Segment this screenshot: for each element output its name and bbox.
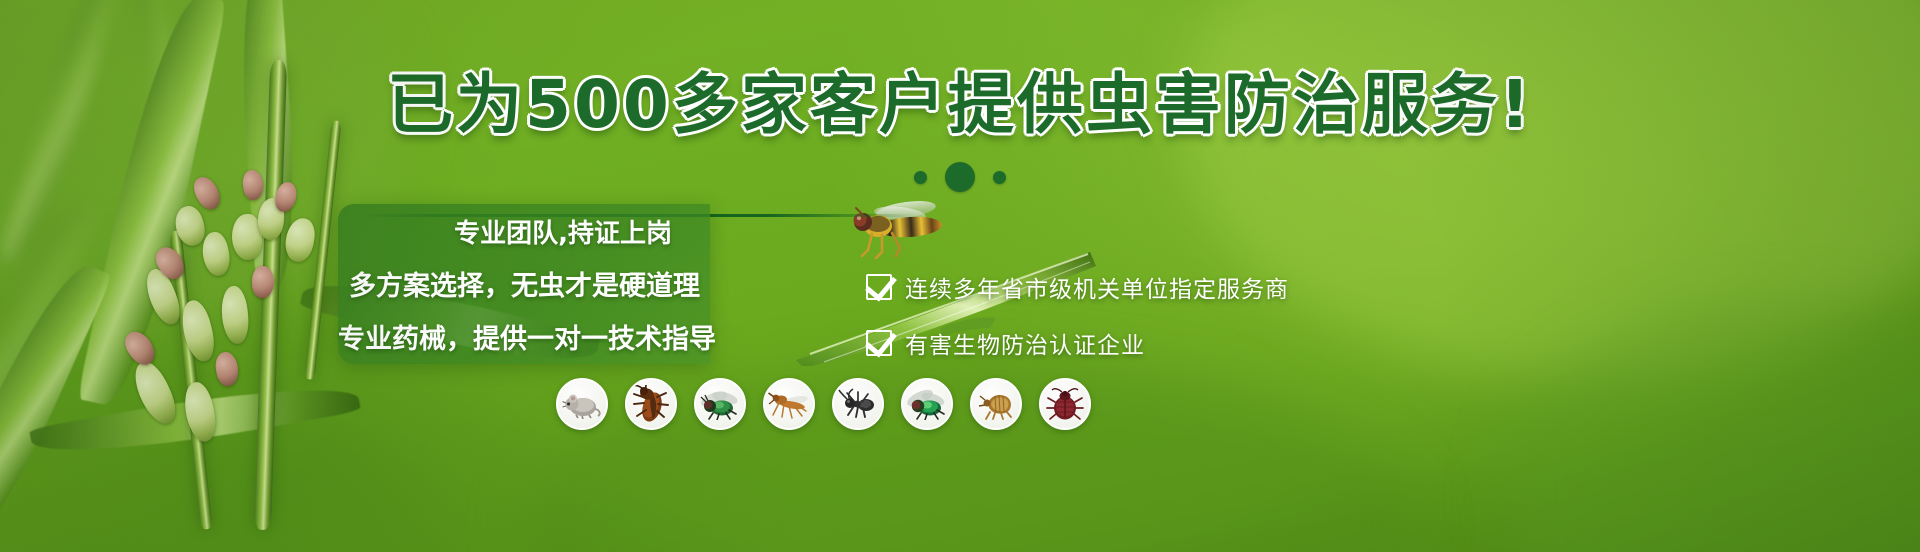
background-vignette [0, 0, 1920, 552]
pest-control-hero-banner: 已为500多家客户提供虫害防治服务! 专业团队,持证上岗 多方案选择，无虫才是硬… [0, 0, 1920, 552]
